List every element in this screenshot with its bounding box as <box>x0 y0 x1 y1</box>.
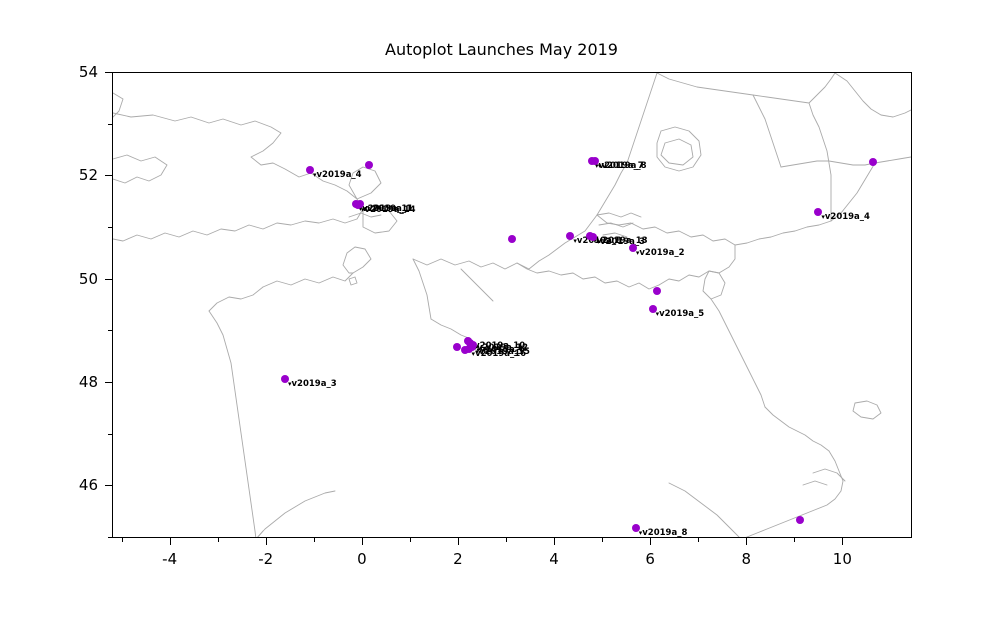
y-axis-tick-minor <box>108 124 112 125</box>
x-axis-tick-major <box>362 538 363 545</box>
x-axis-tick-minor <box>602 538 603 542</box>
y-axis-tick-minor <box>108 537 112 538</box>
x-axis-tick-label: 10 <box>833 550 852 568</box>
launch-label-text: v2019a_8 <box>642 528 687 538</box>
launch-label: ▾v2019a_8 <box>639 529 688 538</box>
launch-label: ▾v2019a_3 <box>288 380 337 389</box>
launch-marker[interactable] <box>365 161 373 169</box>
y-axis-tick-major <box>105 382 112 383</box>
x-axis-tick-major <box>458 538 459 545</box>
x-axis-tick-major <box>266 538 267 545</box>
figure-canvas: Autoplot Launches May 2019 <box>0 0 1003 633</box>
y-axis-tick-minor <box>108 330 112 331</box>
x-axis-tick-minor <box>218 538 219 542</box>
y-axis-tick-label: 52 <box>62 166 98 184</box>
launch-marker[interactable] <box>653 287 661 295</box>
x-axis-tick-major <box>842 538 843 545</box>
x-axis-tick-minor <box>122 538 123 542</box>
x-axis-tick-label: 2 <box>453 550 463 568</box>
y-axis-tick-label: 54 <box>62 63 98 81</box>
y-axis-tick-label: 50 <box>62 270 98 288</box>
x-axis-tick-label: 6 <box>645 550 655 568</box>
launch-label: ▾v2019a_4 <box>313 171 362 180</box>
launch-label-text: v2019a_3 <box>600 237 645 247</box>
launch-label-text: v2019a_4 <box>825 212 870 222</box>
map-axes: ▾v2019a_4▾v2019a_11▾v2019a_14▾v2019a_1▾v… <box>112 72 912 538</box>
y-axis-tick-major <box>105 72 112 73</box>
launch-marker[interactable] <box>461 346 469 354</box>
y-axis-tick-minor <box>108 227 112 228</box>
launch-label: ▾v2019a_4 <box>821 213 870 222</box>
y-axis-tick-label: 48 <box>62 373 98 391</box>
y-axis-tick-major <box>105 485 112 486</box>
launch-label: ▾v2019a_3 <box>596 238 645 247</box>
x-axis-tick-label: 8 <box>741 550 751 568</box>
launch-marker[interactable] <box>453 343 461 351</box>
x-axis-tick-major <box>554 538 555 545</box>
launch-label-text: v2019a_1 <box>367 204 412 214</box>
launch-label: ▾v2019a_8 <box>598 162 647 171</box>
page-title: Autoplot Launches May 2019 <box>0 40 1003 59</box>
launch-label-text: v2019a_2 <box>639 248 684 258</box>
x-axis-tick-major <box>170 538 171 545</box>
coastline-map <box>113 73 912 538</box>
launch-label-text: v2019a_4 <box>317 170 362 180</box>
launch-label-text: v2019a_5 <box>659 309 704 319</box>
x-axis-tick-label: -2 <box>258 550 273 568</box>
launch-label: ▾v2019a_2 <box>636 249 685 258</box>
x-axis-tick-minor <box>410 538 411 542</box>
launch-label: ▾v2019a_16 <box>472 350 527 359</box>
x-axis-tick-minor <box>314 538 315 542</box>
launch-label-text: v2019a_8 <box>601 161 646 171</box>
x-axis-tick-label: 0 <box>357 550 367 568</box>
x-axis-tick-label: -4 <box>162 550 177 568</box>
launch-label: ▾v2019a_1 <box>363 205 412 214</box>
launch-label-text: v2019a_16 <box>475 349 526 359</box>
y-axis-tick-label: 46 <box>62 476 98 494</box>
launch-marker[interactable] <box>796 516 804 524</box>
launch-label-text: v2019a_3 <box>292 379 337 389</box>
y-axis-tick-major <box>105 279 112 280</box>
x-axis-tick-label: 4 <box>549 550 559 568</box>
launch-label: ▾v2019a_5 <box>656 310 705 319</box>
y-axis-tick-major <box>105 175 112 176</box>
x-axis-tick-minor <box>794 538 795 542</box>
x-axis-tick-major <box>650 538 651 545</box>
x-axis-tick-major <box>746 538 747 545</box>
x-axis-tick-minor <box>698 538 699 542</box>
x-axis-tick-minor <box>506 538 507 542</box>
y-axis-tick-minor <box>108 434 112 435</box>
